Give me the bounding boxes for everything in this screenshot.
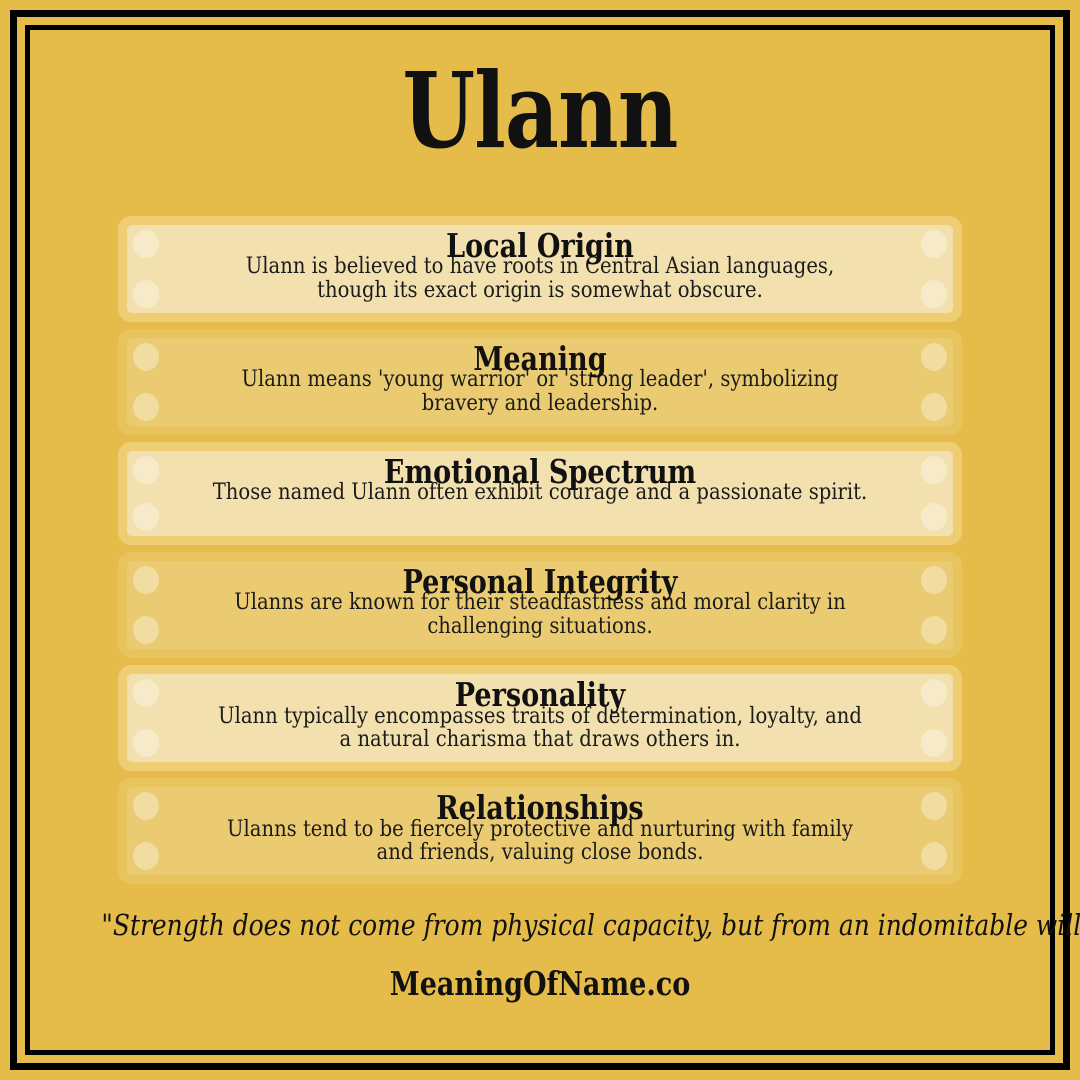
corner-pin-icon bbox=[921, 343, 947, 371]
corner-pin-icon bbox=[921, 566, 947, 594]
corner-pin-icon bbox=[133, 343, 159, 371]
corner-pin-icon bbox=[921, 616, 947, 644]
footer-quote: "Strength does not come from physical ca… bbox=[101, 910, 978, 942]
section-heading: Meaning bbox=[229, 344, 851, 374]
section-card-inner: Emotional SpectrumThose named Ulann ofte… bbox=[127, 451, 953, 536]
corner-pin-icon bbox=[133, 729, 159, 757]
sections-list: Local OriginUlann is believed to have ro… bbox=[118, 216, 962, 891]
section-card-inner: MeaningUlann means 'young warrior' or 's… bbox=[127, 338, 953, 426]
corner-pin-icon bbox=[133, 566, 159, 594]
section-card: RelationshipsUlanns tend to be fiercely … bbox=[118, 778, 962, 884]
corner-pin-icon bbox=[133, 792, 159, 820]
corner-pin-icon bbox=[133, 456, 159, 484]
corner-pin-icon bbox=[921, 729, 947, 757]
section-card: Local OriginUlann is believed to have ro… bbox=[118, 216, 962, 322]
section-card: Emotional SpectrumThose named Ulann ofte… bbox=[118, 442, 962, 545]
footer: "Strength does not come from physical ca… bbox=[30, 910, 1050, 1002]
section-card-inner: Local OriginUlann is believed to have ro… bbox=[127, 225, 953, 313]
section-card: Personal IntegrityUlanns are known for t… bbox=[118, 552, 962, 658]
corner-pin-icon bbox=[921, 679, 947, 707]
corner-pin-icon bbox=[133, 842, 159, 870]
corner-pin-icon bbox=[921, 842, 947, 870]
outer-frame: Ulann Local OriginUlann is believed to h… bbox=[10, 10, 1070, 1070]
section-card-inner: Personal IntegrityUlanns are known for t… bbox=[127, 561, 953, 649]
corner-pin-icon bbox=[133, 503, 159, 531]
section-heading: Emotional Spectrum bbox=[229, 457, 851, 487]
section-card: PersonalityUlann typically encompasses t… bbox=[118, 665, 962, 771]
section-card: MeaningUlann means 'young warrior' or 's… bbox=[118, 329, 962, 435]
corner-pin-icon bbox=[921, 280, 947, 308]
page-title: Ulann bbox=[132, 56, 948, 166]
section-card-inner: PersonalityUlann typically encompasses t… bbox=[127, 674, 953, 762]
section-heading: Personality bbox=[229, 680, 851, 710]
footer-site-name: MeaningOfName.co bbox=[122, 966, 958, 1002]
inner-frame: Ulann Local OriginUlann is believed to h… bbox=[25, 25, 1055, 1055]
section-heading: Personal Integrity bbox=[229, 567, 851, 597]
section-card-inner: RelationshipsUlanns tend to be fiercely … bbox=[127, 787, 953, 875]
corner-pin-icon bbox=[133, 280, 159, 308]
poster-canvas: Ulann Local OriginUlann is believed to h… bbox=[30, 30, 1050, 1050]
corner-pin-icon bbox=[921, 456, 947, 484]
section-heading: Relationships bbox=[229, 793, 851, 823]
corner-pin-icon bbox=[921, 503, 947, 531]
corner-pin-icon bbox=[921, 792, 947, 820]
corner-pin-icon bbox=[133, 679, 159, 707]
section-heading: Local Origin bbox=[229, 231, 851, 261]
corner-pin-icon bbox=[133, 393, 159, 421]
corner-pin-icon bbox=[921, 393, 947, 421]
corner-pin-icon bbox=[133, 616, 159, 644]
corner-pin-icon bbox=[921, 230, 947, 258]
corner-pin-icon bbox=[133, 230, 159, 258]
